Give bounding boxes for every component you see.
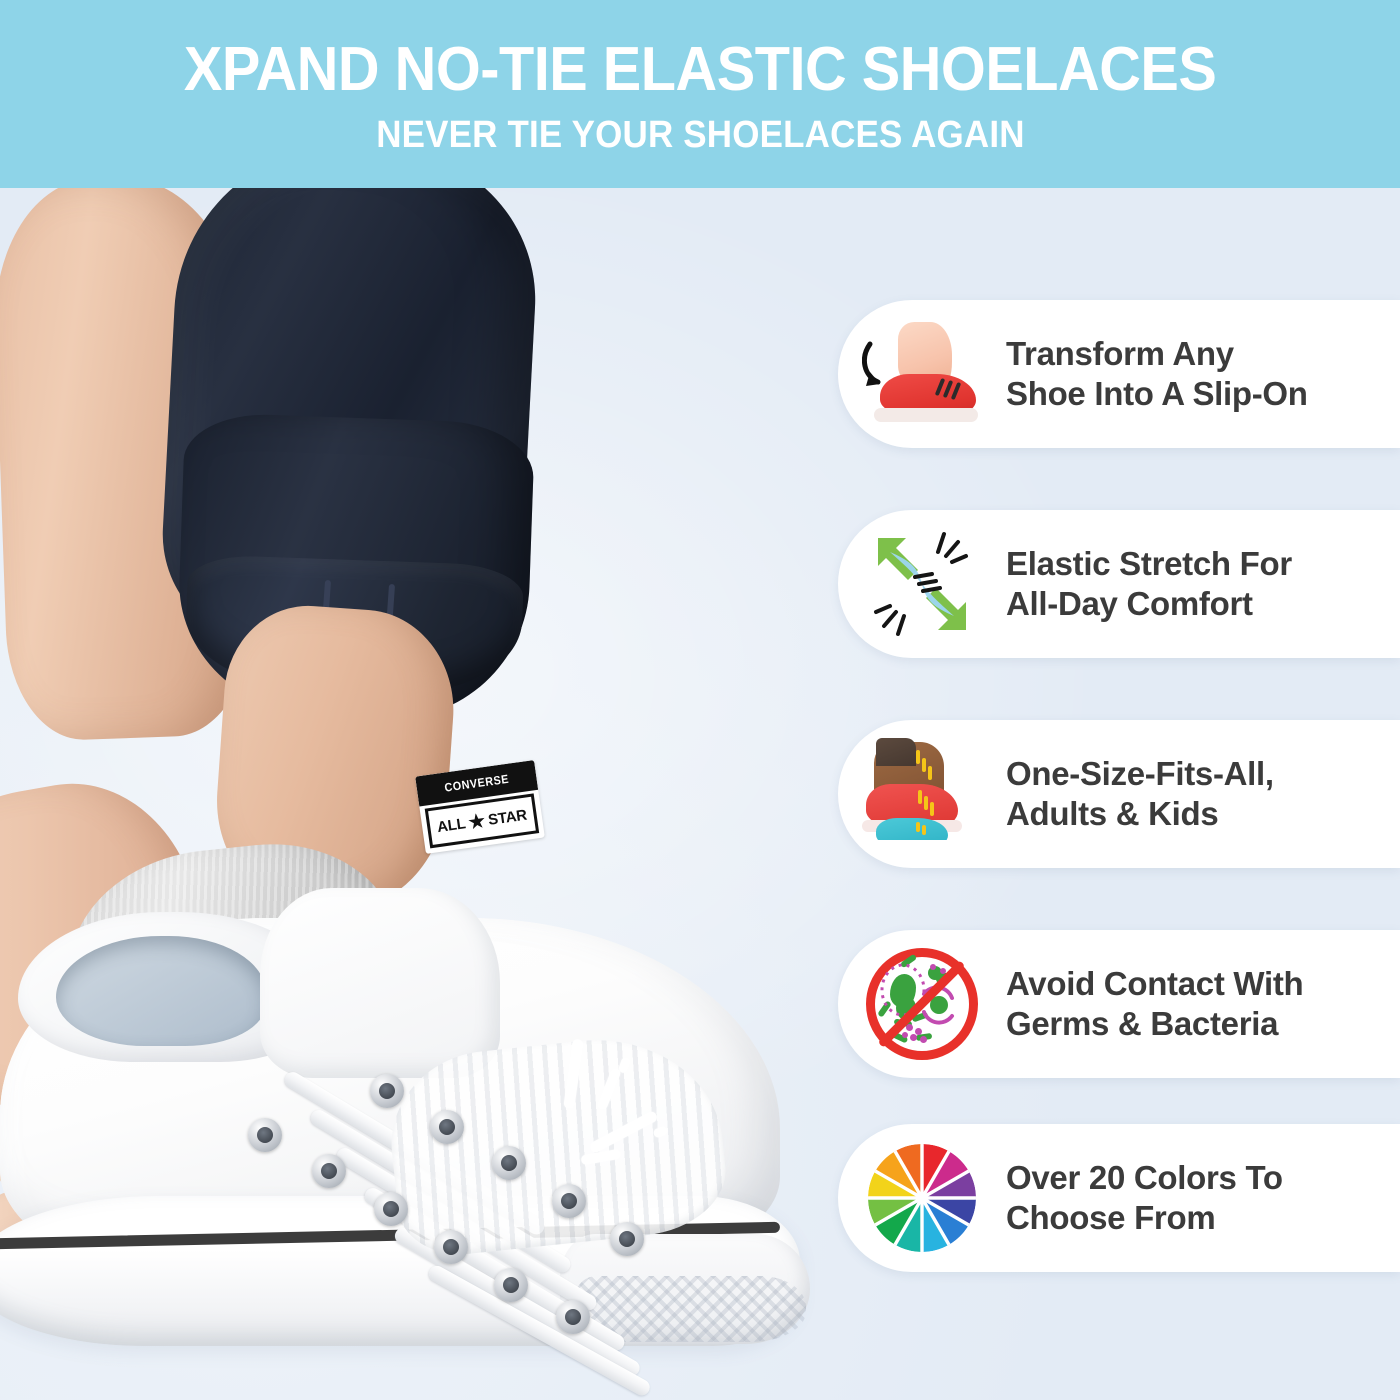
feature-line-1: Over 20 Colors To bbox=[1006, 1159, 1283, 1196]
feature-label: Elastic Stretch For All-Day Comfort bbox=[1006, 544, 1292, 625]
yellow-lace bbox=[918, 790, 922, 804]
feature-card-germs[interactable]: Avoid Contact With Germs & Bacteria bbox=[838, 930, 1400, 1078]
infographic-page: XPAND NO-TIE ELASTIC SHOELACES NEVER TIE… bbox=[0, 0, 1400, 1400]
feature-label: One-Size-Fits-All, Adults & Kids bbox=[1006, 754, 1274, 835]
yellow-lace bbox=[916, 822, 920, 832]
feature-line-2: Germs & Bacteria bbox=[1006, 1004, 1303, 1044]
feature-line-1: One-Size-Fits-All, bbox=[1006, 755, 1274, 792]
feature-line-1: Elastic Stretch For bbox=[1006, 545, 1292, 582]
feature-label: Transform Any Shoe Into A Slip-On bbox=[1006, 334, 1308, 415]
feature-line-2: Choose From bbox=[1006, 1198, 1283, 1238]
yellow-lace bbox=[916, 750, 920, 764]
teal-shoe-sole bbox=[872, 840, 952, 850]
red-shoe-sole bbox=[874, 408, 978, 422]
foot-into-shoe-icon bbox=[860, 312, 984, 436]
yellow-lace bbox=[922, 825, 926, 835]
feature-card-list: Transform Any Shoe Into A Slip-On bbox=[0, 0, 1400, 1400]
feature-card-colors[interactable]: Over 20 Colors To Choose From bbox=[838, 1124, 1400, 1272]
feature-label: Avoid Contact With Germs & Bacteria bbox=[1006, 964, 1303, 1045]
yellow-lace bbox=[928, 766, 932, 780]
color-wheel-icon bbox=[860, 1136, 984, 1260]
elastic-stretch-arrows-icon bbox=[860, 522, 984, 646]
feature-label: Over 20 Colors To Choose From bbox=[1006, 1158, 1283, 1239]
boot-collar bbox=[876, 738, 916, 766]
feature-line-1: Avoid Contact With bbox=[1006, 965, 1303, 1002]
yellow-lace bbox=[922, 758, 926, 772]
feature-line-1: Transform Any bbox=[1006, 335, 1234, 372]
yellow-lace bbox=[930, 802, 934, 816]
yellow-lace bbox=[924, 796, 928, 810]
feature-card-transform[interactable]: Transform Any Shoe Into A Slip-On bbox=[838, 300, 1400, 448]
feature-line-2: Shoe Into A Slip-On bbox=[1006, 374, 1308, 414]
feature-card-elastic[interactable]: Elastic Stretch For All-Day Comfort bbox=[838, 510, 1400, 658]
three-shoes-icon bbox=[860, 732, 984, 856]
color-wheel bbox=[868, 1144, 976, 1252]
no-germs-icon bbox=[860, 942, 984, 1066]
feature-line-2: All-Day Comfort bbox=[1006, 584, 1292, 624]
feature-card-one-size[interactable]: One-Size-Fits-All, Adults & Kids bbox=[838, 720, 1400, 868]
feature-line-2: Adults & Kids bbox=[1006, 794, 1274, 834]
